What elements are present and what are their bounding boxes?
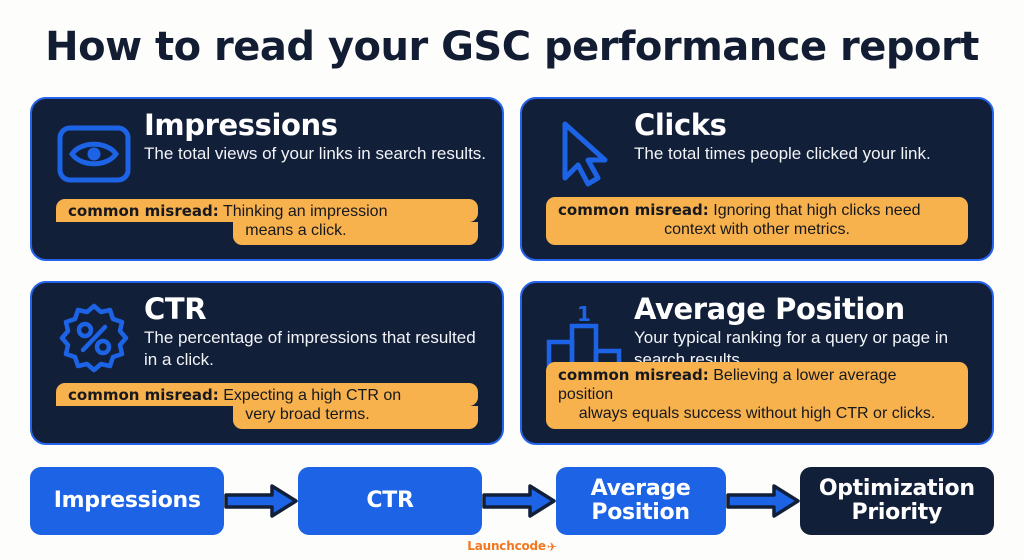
misread-text-1: Ignoring that high clicks need bbox=[713, 202, 920, 219]
metric-card-clicks: Clicks The total times people clicked yo… bbox=[520, 97, 994, 261]
misread-label: common misread: bbox=[558, 201, 709, 219]
misread-label: common misread: bbox=[68, 202, 219, 220]
card-title: CTR bbox=[144, 293, 490, 325]
page-title: How to read your GSC performance report bbox=[0, 24, 1024, 70]
metric-card-average-position: 1 Average Position Your typical ranking … bbox=[520, 281, 994, 445]
misread-line-1: common misread: Expecting a high CTR on bbox=[56, 383, 478, 406]
misread-content: common misread: Ignoring that high click… bbox=[546, 197, 968, 245]
misread-banner: common misread: Expecting a high CTR on … bbox=[56, 383, 478, 429]
cursor-icon bbox=[540, 115, 628, 193]
flow-arrow-1-icon bbox=[224, 484, 298, 518]
metric-flow: Impressions CTR Average Position Optimiz… bbox=[30, 464, 994, 538]
card-title: Average Position bbox=[634, 293, 980, 325]
flow-step-ctr[interactable]: CTR bbox=[298, 467, 481, 535]
rocket-icon: ✈ bbox=[547, 540, 557, 554]
card-description: The total views of your links in search … bbox=[144, 143, 490, 165]
card-title: Impressions bbox=[144, 109, 490, 141]
misread-line-2: means a click. bbox=[233, 222, 478, 245]
card-head: Average Position Your typical ranking fo… bbox=[634, 293, 980, 371]
card-head: Impressions The total views of your link… bbox=[144, 109, 490, 165]
card-title: Clicks bbox=[634, 109, 980, 141]
flow-step-average-position[interactable]: Average Position bbox=[556, 467, 726, 535]
card-head: Clicks The total times people clicked yo… bbox=[634, 109, 980, 165]
metric-card-ctr: CTR The percentage of impressions that r… bbox=[30, 281, 504, 445]
misread-line-2: very broad terms. bbox=[233, 406, 478, 429]
misread-text-1: Expecting a high CTR on bbox=[223, 387, 401, 404]
eye-icon bbox=[50, 115, 138, 193]
misread-label: common misread: bbox=[68, 386, 219, 404]
misread-banner: common misread: Believing a lower averag… bbox=[546, 362, 968, 429]
percent-badge-icon bbox=[50, 299, 138, 377]
flow-step-impressions[interactable]: Impressions bbox=[30, 467, 224, 535]
misread-label: common misread: bbox=[558, 366, 709, 384]
misread-text-1: Thinking an impression bbox=[223, 203, 388, 220]
flow-step-optimization-priority[interactable]: Optimization Priority bbox=[800, 467, 994, 535]
misread-text-2: context with other metrics. bbox=[558, 221, 956, 240]
podium-rank-number: 1 bbox=[577, 302, 591, 326]
brand-logo: Launchcode✈ bbox=[0, 539, 1024, 553]
misread-text-2: always equals success without high CTR o… bbox=[558, 405, 956, 424]
flow-arrow-2-icon bbox=[482, 484, 556, 518]
card-head: CTR The percentage of impressions that r… bbox=[144, 293, 490, 371]
metric-card-impressions: Impressions The total views of your link… bbox=[30, 97, 504, 261]
flow-arrow-3-icon bbox=[726, 484, 800, 518]
misread-banner: common misread: Thinking an impression m… bbox=[56, 199, 478, 245]
metric-cards-grid: Impressions The total views of your link… bbox=[30, 97, 994, 445]
card-description: The percentage of impressions that resul… bbox=[144, 327, 490, 371]
brand-logo-text: Launchcode bbox=[467, 539, 546, 553]
misread-line-1: common misread: Thinking an impression bbox=[56, 199, 478, 222]
misread-banner: common misread: Ignoring that high click… bbox=[546, 197, 968, 245]
card-description: The total times people clicked your link… bbox=[634, 143, 980, 165]
misread-content: common misread: Believing a lower averag… bbox=[546, 362, 968, 429]
